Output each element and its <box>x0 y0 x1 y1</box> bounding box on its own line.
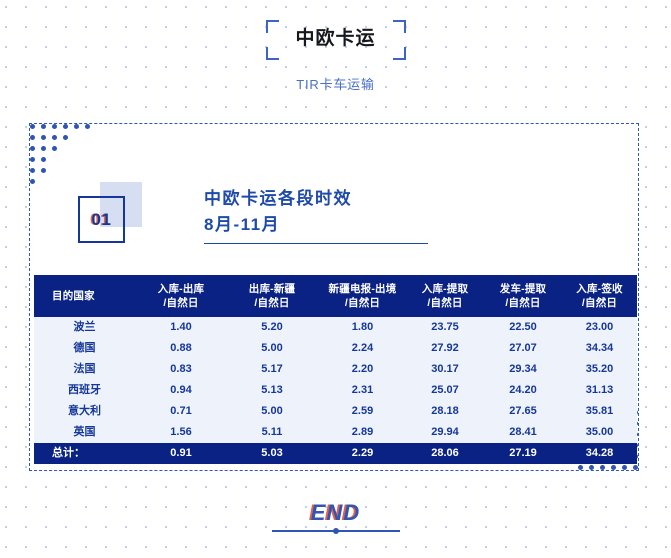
column-header-6-label: 入库-签收 <box>564 282 635 296</box>
cell-value: 2.89 <box>319 422 406 443</box>
page-subtitle: TIR卡车运输 <box>296 74 375 93</box>
table-row: 法国 0.83 5.17 2.20 30.17 29.34 35.20 <box>34 359 637 380</box>
bracket-top-left-icon <box>265 20 278 33</box>
cell-country: 德国 <box>34 338 137 359</box>
table-row: 德国 0.88 5.00 2.24 27.92 27.07 34.34 <box>34 338 637 359</box>
table-total-row: 总计： 0.91 5.03 2.29 28.06 27.19 34.28 <box>34 443 637 464</box>
column-header-3: 新疆电报-出境 /自然日 <box>319 275 406 317</box>
cell-value: 24.20 <box>484 380 562 401</box>
cell-total-value: 2.29 <box>319 443 406 464</box>
cell-value: 28.18 <box>406 401 484 422</box>
cell-value: 1.56 <box>137 422 225 443</box>
cell-value: 27.92 <box>406 338 484 359</box>
cell-value: 1.80 <box>319 317 406 338</box>
cell-value: 5.11 <box>225 422 319 443</box>
column-header-2: 出库-新疆 /自然日 <box>225 275 319 317</box>
column-header-6: 入库-签收 /自然日 <box>562 275 637 317</box>
cell-value: 27.07 <box>484 338 562 359</box>
column-header-1-label: 入库-出库 <box>139 282 223 296</box>
column-header-4-label: 入库-提取 <box>408 282 482 296</box>
heading-line-1: 中欧卡运各段时效 <box>204 186 554 212</box>
timeliness-table: 目的国家 入库-出库 /自然日 出库-新疆 /自然日 新疆电报-出境 /自然日 <box>34 275 637 464</box>
column-header-1-unit: /自然日 <box>139 296 223 310</box>
section-heading: 01 中欧卡运各段时效 8月-11月 <box>78 182 598 260</box>
column-header-3-unit: /自然日 <box>321 296 404 310</box>
column-header-4-unit: /自然日 <box>408 296 482 310</box>
bracket-top-right-icon <box>393 20 406 33</box>
cell-value: 5.13 <box>225 380 319 401</box>
page-title: 中欧卡运 <box>295 27 375 51</box>
column-header-2-label: 出库-新疆 <box>227 282 317 296</box>
cell-value: 2.20 <box>319 359 406 380</box>
column-header-2-unit: /自然日 <box>227 296 317 310</box>
cell-total-value: 28.06 <box>406 443 484 464</box>
cell-country: 英国 <box>34 422 137 443</box>
column-header-6-unit: /自然日 <box>564 296 635 310</box>
cell-value: 0.94 <box>137 380 225 401</box>
cell-value: 35.81 <box>562 401 637 422</box>
cell-country: 法国 <box>34 359 137 380</box>
cell-total-value: 34.28 <box>562 443 637 464</box>
cell-value: 29.34 <box>484 359 562 380</box>
cell-value: 31.13 <box>562 380 637 401</box>
table-body: 波兰 1.40 5.20 1.80 23.75 22.50 23.00 德国 0… <box>34 317 637 464</box>
cell-value: 2.59 <box>319 401 406 422</box>
table-row: 西班牙 0.94 5.13 2.31 25.07 24.20 31.13 <box>34 380 637 401</box>
heading-underline <box>204 243 428 244</box>
page-header: 中欧卡运 TIR卡车运输 <box>0 0 671 110</box>
end-divider <box>272 530 400 532</box>
cell-value: 5.00 <box>225 401 319 422</box>
decorative-dots-top-left <box>27 121 93 187</box>
cell-value: 23.75 <box>406 317 484 338</box>
cell-country: 意大利 <box>34 401 137 422</box>
cell-value: 1.40 <box>137 317 225 338</box>
cell-value: 27.65 <box>484 401 562 422</box>
bracket-bottom-left-icon <box>265 47 278 60</box>
cell-value: 0.88 <box>137 338 225 359</box>
cell-value: 30.17 <box>406 359 484 380</box>
cell-value: 34.34 <box>562 338 637 359</box>
table-header-row: 目的国家 入库-出库 /自然日 出库-新疆 /自然日 新疆电报-出境 /自然日 <box>34 275 637 317</box>
section-number: 01 <box>92 210 112 230</box>
heading-line-2: 8月-11月 <box>204 212 554 238</box>
cell-value: 28.41 <box>484 422 562 443</box>
column-header-5-unit: /自然日 <box>486 296 560 310</box>
cell-value: 22.50 <box>484 317 562 338</box>
column-header-1: 入库-出库 /自然日 <box>137 275 225 317</box>
column-header-5: 发车-提取 /自然日 <box>484 275 562 317</box>
table-row: 英国 1.56 5.11 2.89 29.94 28.41 35.00 <box>34 422 637 443</box>
cell-country: 波兰 <box>34 317 137 338</box>
cell-value: 2.24 <box>319 338 406 359</box>
table-row: 波兰 1.40 5.20 1.80 23.75 22.50 23.00 <box>34 317 637 338</box>
cell-total-label: 总计： <box>34 443 137 464</box>
cell-value: 0.71 <box>137 401 225 422</box>
column-header-country-label: 目的国家 <box>52 290 95 302</box>
section-heading-text: 中欧卡运各段时效 8月-11月 <box>204 186 554 244</box>
cell-value: 5.17 <box>225 359 319 380</box>
cell-value: 25.07 <box>406 380 484 401</box>
title-badge: 中欧卡运 <box>265 20 405 60</box>
table-header: 目的国家 入库-出库 /自然日 出库-新疆 /自然日 新疆电报-出境 /自然日 <box>34 275 637 317</box>
end-label: END <box>261 500 411 526</box>
column-header-5-label: 发车-提取 <box>486 282 560 296</box>
cell-total-value: 0.91 <box>137 443 225 464</box>
cell-value: 29.94 <box>406 422 484 443</box>
cell-value: 35.00 <box>562 422 637 443</box>
cell-value: 35.20 <box>562 359 637 380</box>
column-header-country: 目的国家 <box>34 275 137 317</box>
end-divider-dot-icon <box>333 528 339 534</box>
cell-total-value: 5.03 <box>225 443 319 464</box>
cell-value: 5.00 <box>225 338 319 359</box>
cell-value: 5.20 <box>225 317 319 338</box>
column-header-3-label: 新疆电报-出境 <box>321 282 404 296</box>
cell-country: 西班牙 <box>34 380 137 401</box>
column-header-4: 入库-提取 /自然日 <box>406 275 484 317</box>
cell-total-value: 27.19 <box>484 443 562 464</box>
cell-value: 23.00 <box>562 317 637 338</box>
timeliness-table-wrapper: 目的国家 入库-出库 /自然日 出库-新疆 /自然日 新疆电报-出境 /自然日 <box>34 275 637 464</box>
cell-value: 2.31 <box>319 380 406 401</box>
section-number-box: 01 <box>78 196 125 243</box>
bracket-bottom-right-icon <box>393 47 406 60</box>
cell-value: 0.83 <box>137 359 225 380</box>
page-footer: END <box>261 500 411 532</box>
table-row: 意大利 0.71 5.00 2.59 28.18 27.65 35.81 <box>34 401 637 422</box>
content-card: 01 中欧卡运各段时效 8月-11月 目的国家 入库-出库 /自然日 <box>29 123 639 471</box>
